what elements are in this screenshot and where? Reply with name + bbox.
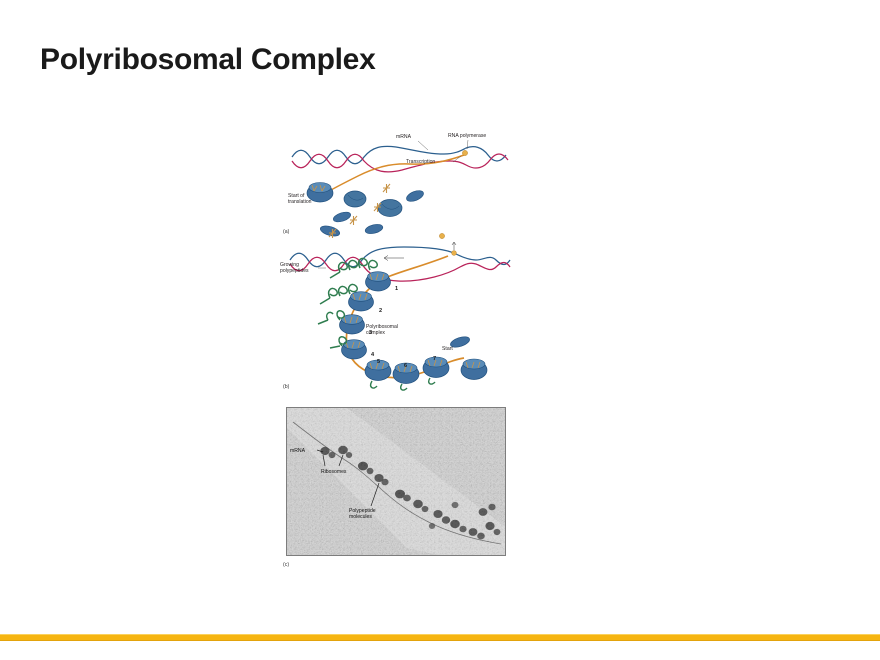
panel-b-illustration: [278, 240, 514, 395]
trna-a-1: [383, 184, 390, 193]
ribosome-number-5: 5: [377, 359, 380, 365]
figure-panel-a: mRNA RNA polymerase Transcription Start …: [278, 128, 514, 240]
dna-strand-magenta-a: [292, 154, 508, 172]
leader-polymerase-b: [452, 242, 456, 250]
ribosome-subunit-b-free-2: [461, 359, 487, 380]
label-transcription-a: Transcription: [406, 159, 435, 165]
polymerase-bead-bottom-a: [439, 233, 444, 238]
ribosome-number-3: 3: [369, 330, 372, 336]
rna-polymerase-dot-a: [462, 150, 467, 155]
dna-strand-magenta-b: [290, 257, 510, 281]
polypeptide-b-7: [429, 378, 435, 384]
polypeptide-b-5: [371, 381, 377, 388]
trna-a-3: [350, 216, 357, 225]
ribosome-b-1: [366, 272, 391, 291]
ribosome-number-7: 7: [433, 356, 436, 362]
electron-micrograph-image: mRNA Ribosomes Polypeptide molecules: [286, 407, 506, 556]
micrograph-content: [287, 408, 506, 556]
micrograph-label-polypeptide-molecules: Polypeptide molecules: [349, 508, 376, 520]
label-mrna-a: mRNA: [396, 134, 411, 140]
label-growing-polypeptides-b: Growing polypeptides: [280, 262, 309, 274]
ribosome-number-6: 6: [404, 363, 407, 369]
label-start-b: Start: [442, 346, 453, 352]
mrna-strand-a: [324, 155, 464, 194]
ribosome-number-4: 4: [371, 352, 374, 358]
dna-strand-blue-a: [292, 146, 506, 163]
panel-letter-c: (c): [283, 563, 289, 568]
panel-a-illustration: [278, 128, 514, 240]
ribosome-number-1: 1: [395, 286, 398, 292]
ribosome-subunit-a-3: [378, 200, 402, 217]
figure-panel-c: mRNA Ribosomes Polypeptide molecules (c): [278, 400, 514, 576]
transcription-direction-arrow-b: [384, 256, 404, 261]
ribosome-subunit-a-2: [344, 191, 366, 207]
panel-letter-a: (a): [283, 230, 289, 235]
polypeptide-b-6: [401, 384, 407, 390]
ribosome-subunit-a-4: [405, 188, 425, 203]
figure-polyribosomal-complex: mRNA RNA polymerase Transcription Start …: [278, 128, 514, 576]
ribosome-number-2: 2: [379, 308, 382, 314]
panel-letter-b: (b): [283, 385, 289, 390]
micrograph-label-ribosomes: Ribosomes: [321, 469, 346, 475]
mrna-strand-b: [346, 256, 464, 378]
ribosome-subunit-a-5: [332, 210, 352, 224]
footer-accent-bar: [0, 634, 880, 641]
leader-mrna-a: [418, 141, 428, 150]
rna-polymerase-dot-b: [452, 251, 457, 256]
figure-panel-b: Growing polypeptides Polyribosomal compl…: [278, 240, 514, 395]
label-rna-polymerase-a: RNA polymerase: [448, 133, 486, 139]
page-title: Polyribosomal Complex: [40, 43, 375, 77]
ribosome-b-2: [349, 292, 374, 311]
micrograph-label-mrna: mRNA: [290, 448, 305, 454]
label-start-of-translation-a: Start of translation: [288, 193, 312, 205]
ribosome-subunit-a-7: [364, 223, 383, 236]
